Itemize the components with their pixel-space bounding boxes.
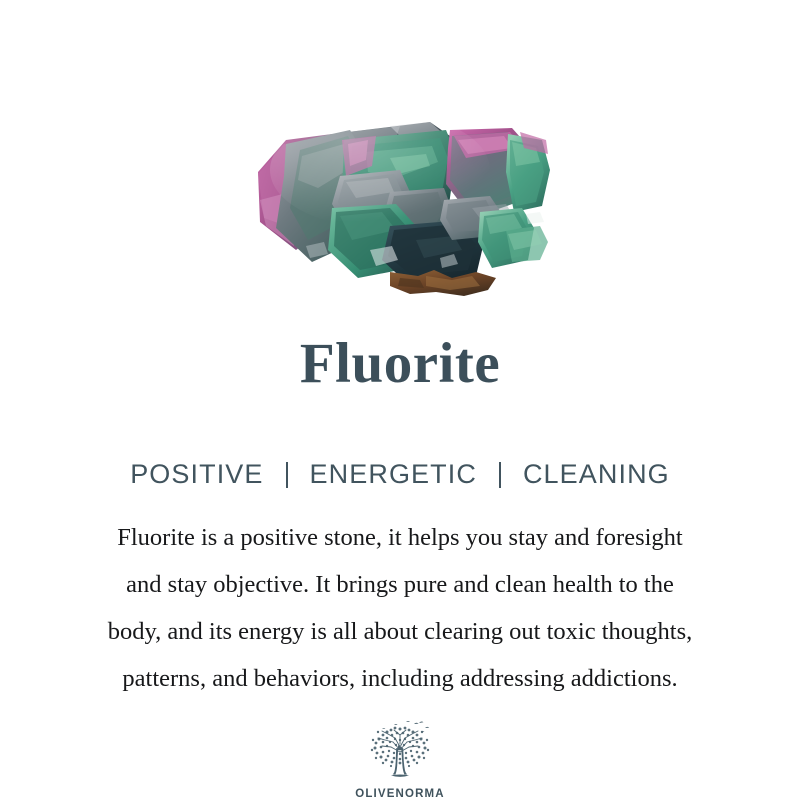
description-line: patterns, and behaviors, including addre… bbox=[20, 655, 780, 702]
tree-with-birds-icon bbox=[364, 720, 436, 786]
description-line: body, and its energy is all about cleari… bbox=[20, 608, 780, 655]
specimen-image-container bbox=[0, 0, 800, 307]
keyword-cleaning: CLEANING bbox=[523, 461, 670, 488]
fluorite-crystal-cluster-image bbox=[240, 100, 560, 305]
description-line: Fluorite is a positive stone, it helps y… bbox=[20, 514, 780, 561]
keyword-energetic: ENERGETIC bbox=[310, 461, 477, 488]
keyword-separator-1 bbox=[286, 462, 288, 488]
keyword-separator-2 bbox=[499, 462, 501, 488]
description-line: and stay objective. It brings pure and c… bbox=[20, 561, 780, 608]
brand-name: OLIVENORMA bbox=[355, 789, 444, 800]
description-text: Fluorite is a positive stone, it helps y… bbox=[20, 514, 780, 702]
page-title: Fluorite bbox=[300, 335, 500, 392]
brand-logo: OLIVENORMA bbox=[355, 720, 444, 800]
product-info-card: Fluorite POSITIVE ENERGETIC CLEANING Flu… bbox=[0, 0, 800, 800]
keyword-list: POSITIVE ENERGETIC CLEANING bbox=[130, 461, 670, 488]
keyword-positive: POSITIVE bbox=[130, 461, 263, 488]
